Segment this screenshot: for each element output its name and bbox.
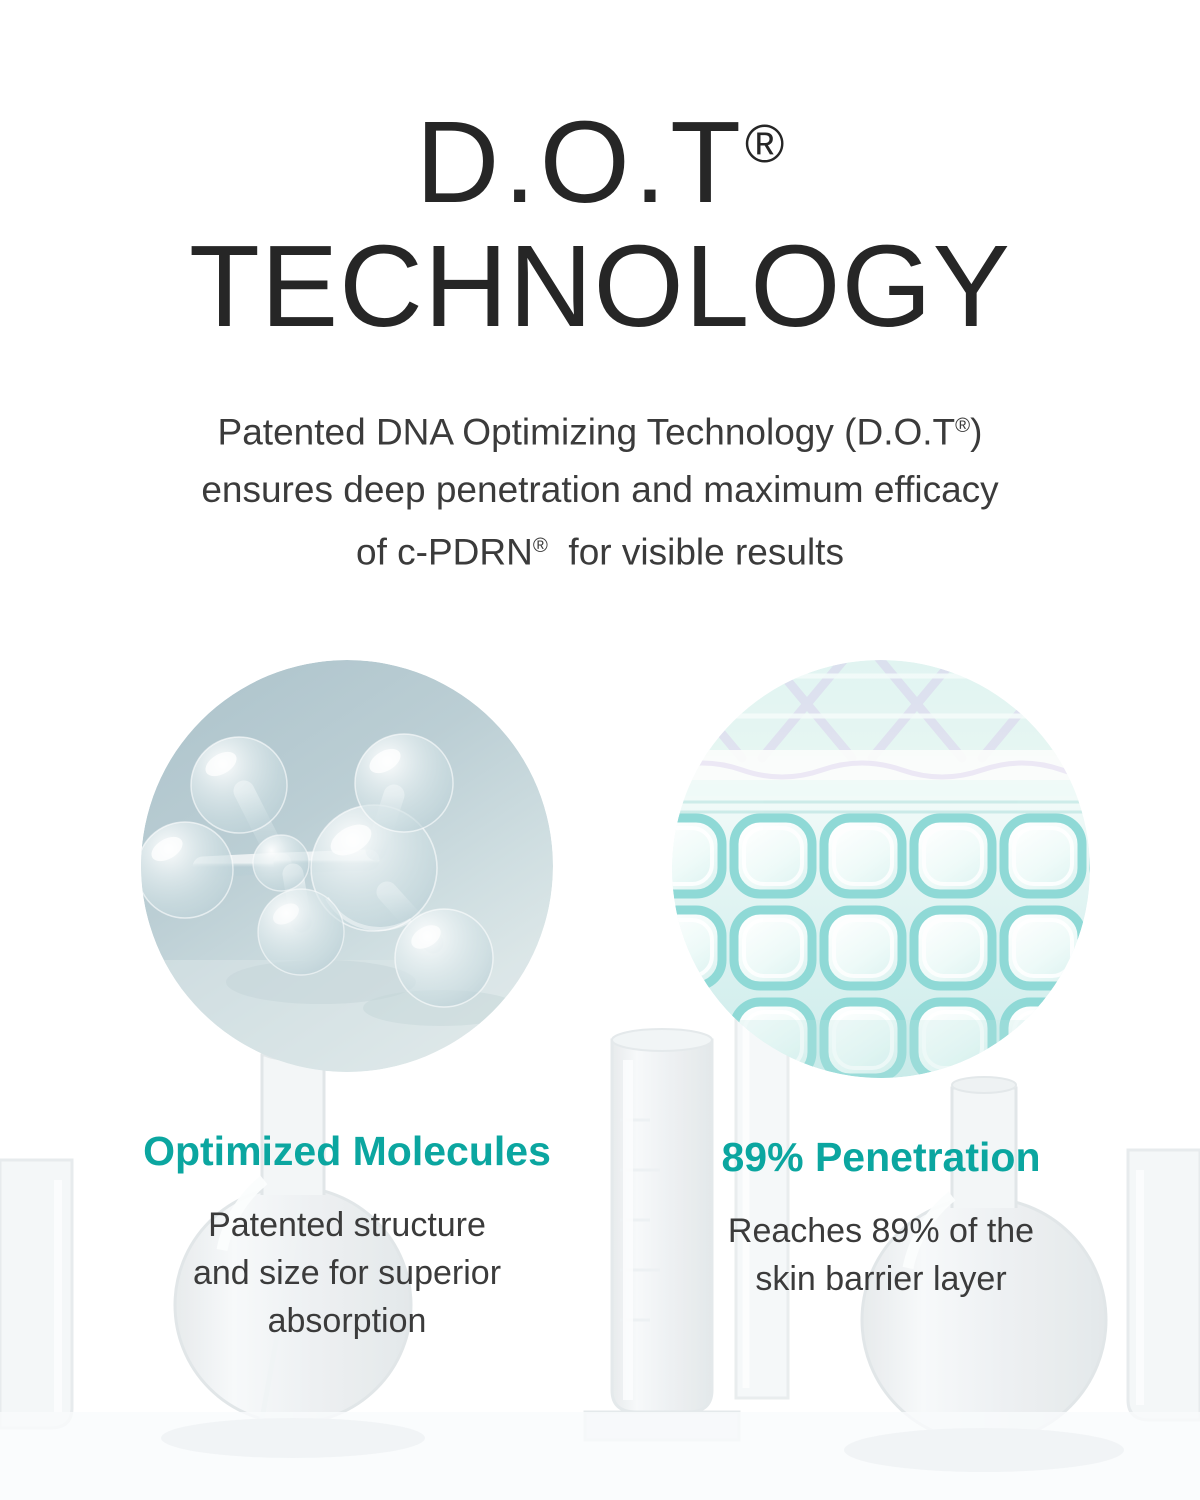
subtitle-line-2: ensures deep penetration and maximum eff… — [0, 461, 1200, 518]
dot-technology-infographic: D.O.T® TECHNOLOGY Patented DNA Optimizin… — [0, 0, 1200, 1500]
feature-penetration: 89% Penetration Reaches 89% of the skin … — [636, 660, 1126, 1303]
feature-description: Reaches 89% of the skin barrier layer — [636, 1207, 1126, 1303]
feature-description-line: Reaches 89% of the — [636, 1207, 1126, 1255]
feature-description-line: skin barrier layer — [636, 1255, 1126, 1303]
page-title-line-2: TECHNOLOGY — [0, 228, 1200, 344]
feature-title: 89% Penetration — [636, 1134, 1126, 1181]
registered-trademark-icon: ® — [745, 115, 784, 174]
subtitle-line-3-tail: for visible results — [548, 531, 844, 572]
feature-columns: Optimized Molecules Patented structure a… — [0, 660, 1200, 1420]
subtitle: Patented DNA Optimizing Technology (D.O.… — [0, 398, 1200, 580]
page-title-text: D.O.T — [416, 97, 745, 227]
skin-penetration-image — [672, 660, 1090, 1078]
subtitle-line-1-text: Patented DNA Optimizing Technology (D.O.… — [218, 412, 956, 453]
feature-description-line: Patented structure — [102, 1201, 592, 1249]
feature-description: Patented structure and size for superior… — [102, 1201, 592, 1345]
subtitle-line-1-tail: ) — [970, 412, 982, 453]
subtitle-line-3: of c-PDRN® for visible results — [0, 518, 1200, 581]
subtitle-line-1: Patented DNA Optimizing Technology (D.O.… — [0, 398, 1200, 461]
feature-optimized-molecules: Optimized Molecules Patented structure a… — [102, 660, 592, 1345]
registered-trademark-icon: ® — [955, 415, 970, 437]
registered-trademark-icon: ® — [533, 535, 548, 557]
page-title-line-1: D.O.T® — [0, 104, 1200, 220]
feature-description-line: absorption — [102, 1297, 592, 1345]
feature-title: Optimized Molecules — [102, 1128, 592, 1175]
feature-description-line: and size for superior — [102, 1249, 592, 1297]
subtitle-line-3-text: of c-PDRN — [356, 531, 533, 572]
optimized-molecules-image — [141, 660, 553, 1072]
